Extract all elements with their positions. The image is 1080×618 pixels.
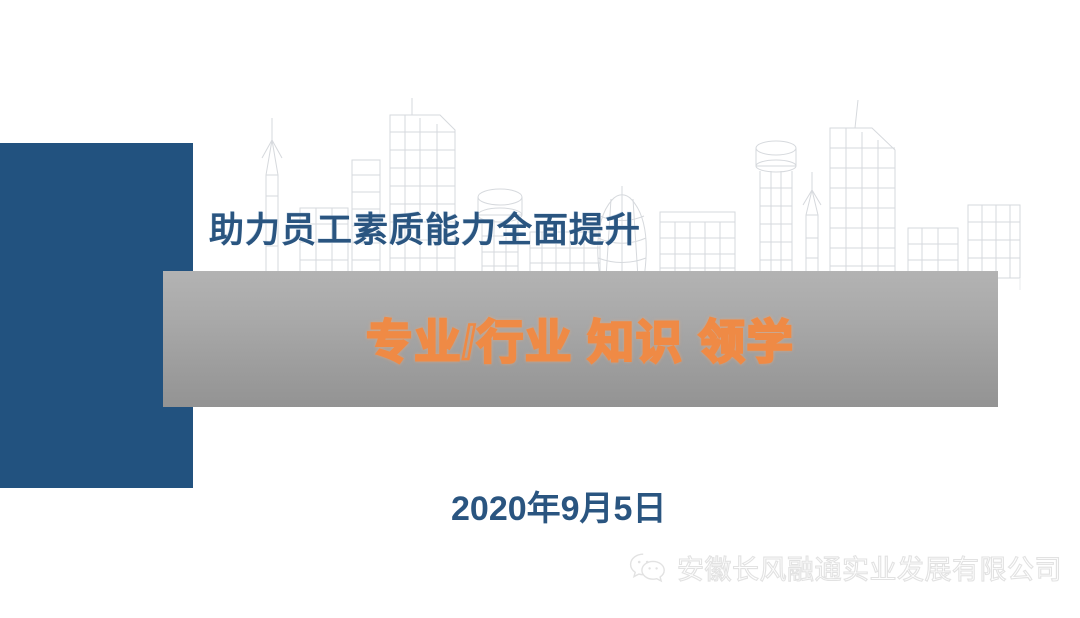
presentation-date: 2020年9月5日 <box>451 481 666 530</box>
gray-title-banner: 专业/行业 知识 领学 <box>163 271 998 407</box>
presentation-slide: 助力员工素质能力全面提升 专业/行业 知识 领学 2020年9月5日 安徽长风融… <box>0 0 1080 618</box>
page-heading: 助力员工素质能力全面提升 <box>209 202 641 253</box>
skyscraper-right-spire <box>830 100 895 278</box>
antenna-tower-left <box>262 118 282 278</box>
footer-company-name: 安徽长风融通实业发展有限公司 <box>677 548 1062 587</box>
footer: 安徽长风融通实业发展有限公司 <box>628 548 1062 587</box>
antenna-tower-right <box>803 172 821 278</box>
page-title: 专业/行业 知识 领学 <box>366 306 794 372</box>
building-grid-mid <box>660 212 735 278</box>
building-far-right-2 <box>968 205 1020 278</box>
wechat-icon <box>628 551 668 585</box>
tower-round-top-2 <box>756 141 796 278</box>
